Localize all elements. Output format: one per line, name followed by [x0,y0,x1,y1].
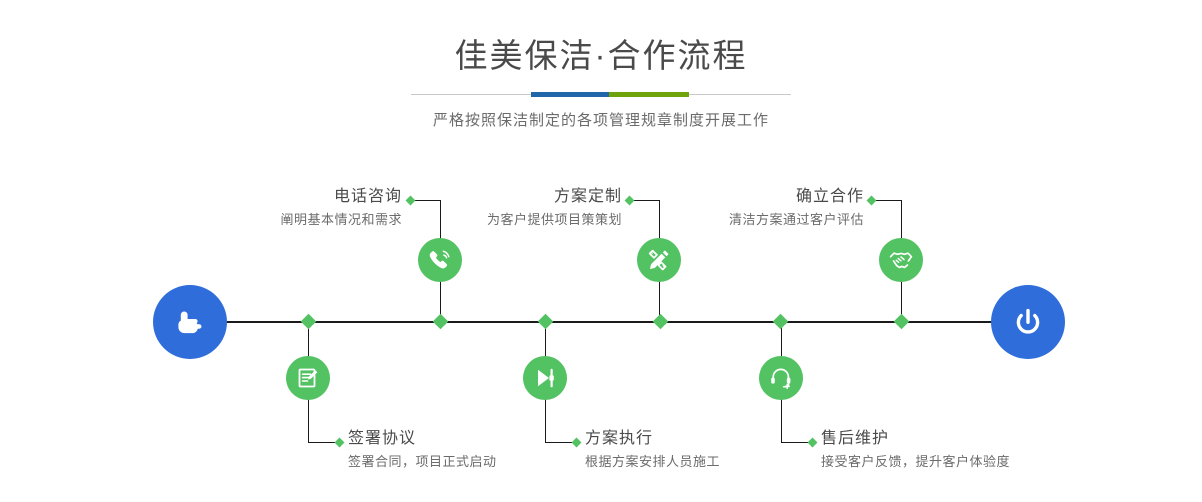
title-divider [411,90,791,100]
axis-node-diamond [301,314,317,330]
step-icon-2 [286,356,330,400]
step-icon-1 [418,238,462,282]
step-desc-6: 接受客户反馈，提升客户体验度 [821,451,1071,472]
step-label-3: 方案定制 为客户提供项目策策划 [400,186,622,230]
step-title-1: 电话咨询 [180,186,402,208]
label-anchor-diamond-step-2 [335,438,345,448]
cooperation-process-infographic: 佳美保洁·合作流程 严格按照保洁制定的各项管理规章制度开展工作 [0,0,1202,502]
label-anchor-diamond-step-5 [867,196,877,206]
phone-call-icon [427,247,453,273]
page-title: 佳美保洁·合作流程 [0,34,1202,78]
step-label-4: 方案执行 根据方案安排人员施工 [585,428,825,472]
axis-node-diamond [653,314,669,330]
step-label-1: 电话咨询 阐明基本情况和需求 [180,186,402,230]
step-label-2: 签署协议 签署合同，项目正式启动 [348,428,588,472]
timeline-end-node [991,285,1065,359]
step-desc-2: 签署合同，项目正式启动 [348,451,588,472]
timeline-start-node [153,285,227,359]
axis-node-diamond [538,314,554,330]
handshake-icon [888,247,914,273]
header: 佳美保洁·合作流程 严格按照保洁制定的各项管理规章制度开展工作 [0,34,1202,132]
power-icon [1008,302,1048,342]
step-icon-5 [879,238,923,282]
step-title-6: 售后维护 [821,428,1071,450]
step-title-5: 确立合作 [642,186,864,208]
step-icon-3 [637,238,681,282]
step-desc-1: 阐明基本情况和需求 [180,209,402,230]
step-desc-3: 为客户提供项目策策划 [400,209,622,230]
page-subtitle: 严格按照保洁制定的各项管理规章制度开展工作 [0,110,1202,132]
step-icon-4 [523,356,567,400]
step-title-2: 签署协议 [348,428,588,450]
step-label-5: 确立合作 清洁方案通过客户评估 [642,186,864,230]
document-sign-icon [295,365,321,391]
pencil-ruler-icon [646,247,672,273]
divider-segment-green [609,92,689,97]
axis-node-diamond [433,314,449,330]
play-execute-icon [532,365,558,391]
divider-segment-blue [531,92,609,97]
step-icon-6 [759,356,803,400]
step-title-3: 方案定制 [400,186,622,208]
customer-service-icon [768,365,794,391]
step-desc-5: 清洁方案通过客户评估 [642,209,864,230]
step-desc-4: 根据方案安排人员施工 [585,451,825,472]
axis-node-diamond [894,314,910,330]
pointing-hand-icon [170,302,210,342]
step-title-4: 方案执行 [585,428,825,450]
label-anchor-diamond-step-3 [625,196,635,206]
axis-node-diamond [773,314,789,330]
step-label-6: 售后维护 接受客户反馈，提升客户体验度 [821,428,1071,472]
